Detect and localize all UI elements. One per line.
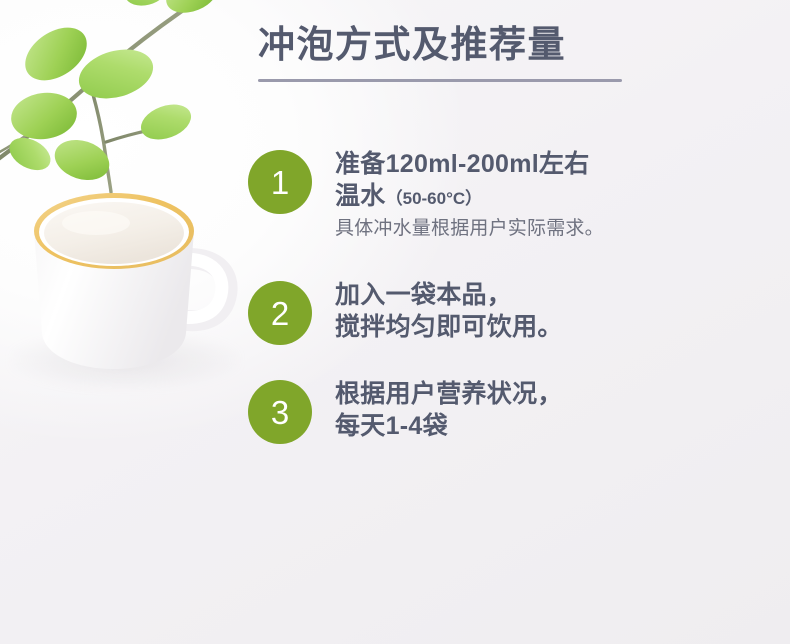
step-heading-line2-3: 每天1-4袋 bbox=[335, 410, 563, 442]
step-list: 1 准备120ml-200ml左右 温水（50-60°C） 具体冲水量根据用户实… bbox=[248, 148, 768, 444]
step-heading-3: 根据用户营养状况， 每天1-4袋 bbox=[335, 378, 563, 443]
step-body-1: 准备120ml-200ml左右 温水（50-60°C） 具体冲水量根据用户实际需… bbox=[335, 148, 604, 241]
step-heading-note-1: （50-60°C） bbox=[386, 189, 483, 208]
product-instruction-banner: 冲泡方式及推荐量 1 准备120ml-200ml左右 温水（50-60°C） 具… bbox=[0, 0, 790, 644]
page-title: 冲泡方式及推荐量 bbox=[258, 24, 658, 65]
step-body-2: 加入一袋本品， 搅拌均匀即可饮用。 bbox=[335, 279, 563, 344]
step-heading-line1-1: 准备120ml-200ml左右 bbox=[335, 148, 604, 180]
step-heading-line2-1: 温水（50-60°C） bbox=[335, 180, 604, 212]
step-sub-1: 具体冲水量根据用户实际需求。 bbox=[335, 217, 604, 242]
milk-mug-icon bbox=[18, 165, 250, 395]
step-number-2: 2 bbox=[271, 297, 289, 330]
title-divider bbox=[258, 79, 622, 82]
step-heading-line2-2: 搅拌均匀即可饮用。 bbox=[335, 311, 563, 343]
step-number-badge-1: 1 bbox=[248, 150, 312, 214]
step-item-1: 1 准备120ml-200ml左右 温水（50-60°C） 具体冲水量根据用户实… bbox=[248, 148, 768, 241]
step-number-1: 1 bbox=[271, 166, 289, 199]
step-heading-line2-text-1: 温水 bbox=[335, 182, 386, 210]
step-item-3: 3 根据用户营养状况， 每天1-4袋 bbox=[248, 378, 768, 444]
step-heading-line1-3: 根据用户营养状况， bbox=[335, 378, 563, 410]
decorative-photo-area bbox=[0, 0, 250, 644]
step-number-badge-3: 3 bbox=[248, 380, 312, 444]
step-number-badge-2: 2 bbox=[248, 281, 312, 345]
mug-shadow bbox=[10, 330, 240, 390]
step-heading-2: 加入一袋本品， 搅拌均匀即可饮用。 bbox=[335, 279, 563, 344]
step-body-3: 根据用户营养状况， 每天1-4袋 bbox=[335, 378, 563, 443]
header: 冲泡方式及推荐量 bbox=[258, 24, 658, 82]
step-number-3: 3 bbox=[271, 396, 289, 429]
leaf-branch-icon bbox=[0, 0, 230, 202]
step-item-2: 2 加入一袋本品， 搅拌均匀即可饮用。 bbox=[248, 279, 768, 345]
step-heading-line1-2: 加入一袋本品， bbox=[335, 279, 563, 311]
step-heading-1: 准备120ml-200ml左右 温水（50-60°C） bbox=[335, 148, 604, 213]
